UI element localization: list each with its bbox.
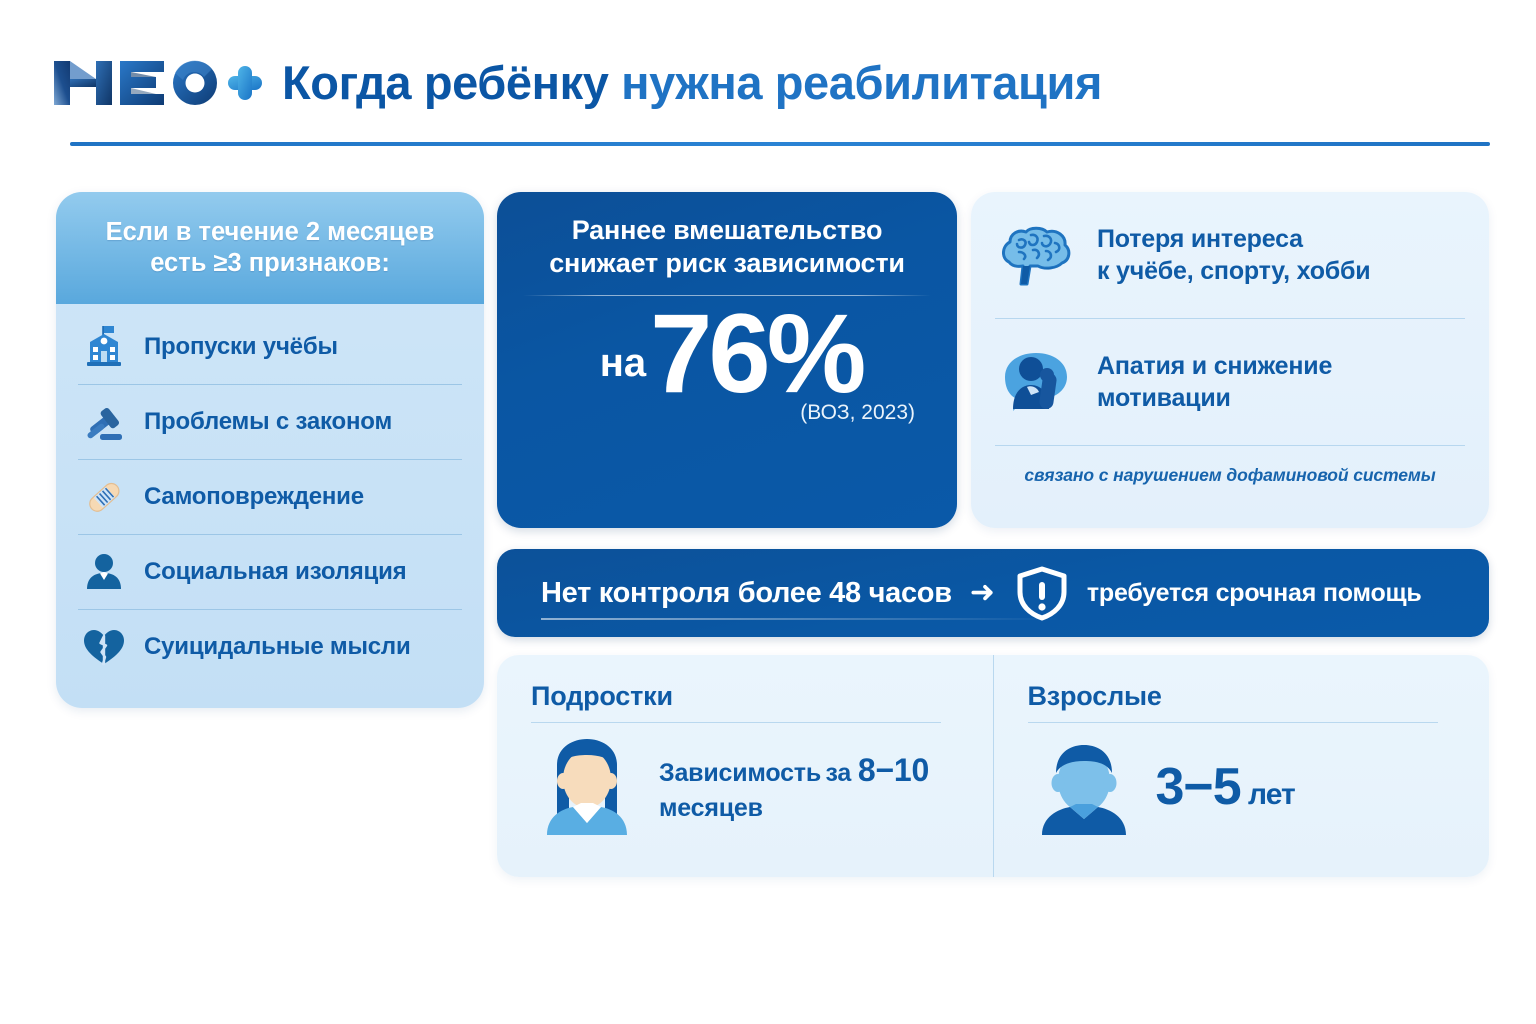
page-title-strong: Когда ребёнку [282, 56, 608, 109]
list-item-label: Самоповреждение [144, 483, 364, 511]
compare-card: Подростки Зависимость [497, 655, 1489, 877]
teen-girl-avatar [531, 731, 643, 843]
compare-divider [1028, 722, 1438, 723]
school-icon [78, 321, 130, 373]
alert-underline [541, 618, 1061, 620]
symptoms-card: Потеря интереса к учёбе, спорту, хобби А… [971, 192, 1489, 528]
compare-column-teens: Подростки Зависимость [497, 655, 993, 877]
person-icon [78, 546, 130, 598]
list-item[interactable]: Суицидальные мысли [78, 609, 462, 684]
stat-value-row: на 76% [497, 302, 957, 405]
infographic-page: Когда ребёнку нужна реабилитация Если в … [0, 0, 1536, 1024]
list-item[interactable]: Самоповреждение [78, 459, 462, 534]
compare-text: Зависимость за 8−10 месяцев [659, 750, 959, 824]
arrow-right-icon: ➜ [968, 578, 997, 608]
apathy-person-icon [995, 341, 1077, 423]
alert-main-text: Нет контроля более 48 часов [541, 577, 952, 610]
signs-heading-line1: Если в течение 2 месяцев [106, 217, 435, 248]
header-divider [70, 142, 1490, 146]
compare-big-number: 3−5 [1156, 758, 1241, 816]
page-title-light: нужна реабилитация [608, 56, 1102, 109]
list-item[interactable]: Пропуски учёбы [78, 310, 462, 384]
adult-man-avatar [1028, 731, 1140, 843]
alert-tail-text: требуется срочная помощь [1087, 579, 1422, 608]
compare-title: Подростки [531, 681, 959, 712]
compare-body: 3−5 лет [1028, 731, 1456, 843]
alert-banner: Нет контроля более 48 часов ➜ требуется … [497, 549, 1489, 637]
stat-headline-line2: снижает риск зависимости [523, 247, 931, 280]
compare-column-adults: Взрослые 3−5 лет [993, 655, 1490, 877]
compare-line2-prefix: за [825, 759, 857, 787]
broken-heart-icon [78, 621, 130, 673]
neo-plus-logo [52, 55, 264, 111]
stat-card: Раннее вмешательство снижает риск зависи… [497, 192, 957, 528]
signs-card-header: Если в течение 2 месяцев есть ≥3 признак… [56, 192, 484, 304]
signs-heading-line2: есть ≥3 признаков: [150, 248, 390, 279]
logo-icon [52, 55, 264, 111]
symptom-row[interactable]: Апатия и снижение мотивации [995, 318, 1465, 445]
symptoms-footnote: связано с нарушением дофаминовой системы [995, 445, 1465, 504]
compare-big-value: 3−5 лет [1156, 761, 1295, 813]
stat-headline-line1: Раннее вмешательство [523, 214, 931, 247]
compare-line2-suffix: месяцев [659, 794, 763, 822]
compare-line2-value: 8−10 [858, 752, 929, 788]
page-header: Когда ребёнку нужна реабилитация [52, 44, 1492, 122]
symptom-row[interactable]: Потеря интереса к учёбе, спорту, хобби [995, 192, 1465, 318]
list-item-label: Пропуски учёбы [144, 333, 338, 361]
list-item-label: Проблемы с законом [144, 408, 392, 436]
list-item[interactable]: Проблемы с законом [78, 384, 462, 459]
symptom-line1: Апатия и снижение [1097, 352, 1332, 380]
shield-exclamation-icon [1013, 564, 1071, 622]
list-item-label: Суицидальные мысли [144, 633, 411, 661]
compare-big-unit: лет [1241, 778, 1295, 811]
symptom-line2: мотивации [1097, 384, 1231, 412]
compare-divider [531, 722, 941, 723]
stat-prefix: на [600, 343, 646, 405]
symptom-label: Апатия и снижение мотивации [1097, 350, 1332, 415]
list-item[interactable]: Социальная изоляция [78, 534, 462, 609]
page-title: Когда ребёнку нужна реабилитация [282, 59, 1102, 107]
compare-line1: Зависимость [659, 759, 821, 787]
symptom-line1: Потеря интереса [1097, 225, 1303, 253]
brain-icon [995, 214, 1077, 296]
signs-card: Если в течение 2 месяцев есть ≥3 признак… [56, 192, 484, 708]
stat-headline: Раннее вмешательство снижает риск зависи… [497, 192, 957, 281]
bandage-icon [78, 471, 130, 523]
compare-title: Взрослые [1028, 681, 1456, 712]
list-item-label: Социальная изоляция [144, 558, 406, 586]
stat-value: 76% [650, 302, 862, 405]
gavel-icon [78, 396, 130, 448]
symptom-label: Потеря интереса к учёбе, спорту, хобби [1097, 223, 1370, 288]
signs-list: Пропуски учёбы Проблемы с законом [56, 304, 484, 694]
symptom-line2: к учёбе, спорту, хобби [1097, 257, 1370, 285]
compare-body: Зависимость за 8−10 месяцев [531, 731, 959, 843]
